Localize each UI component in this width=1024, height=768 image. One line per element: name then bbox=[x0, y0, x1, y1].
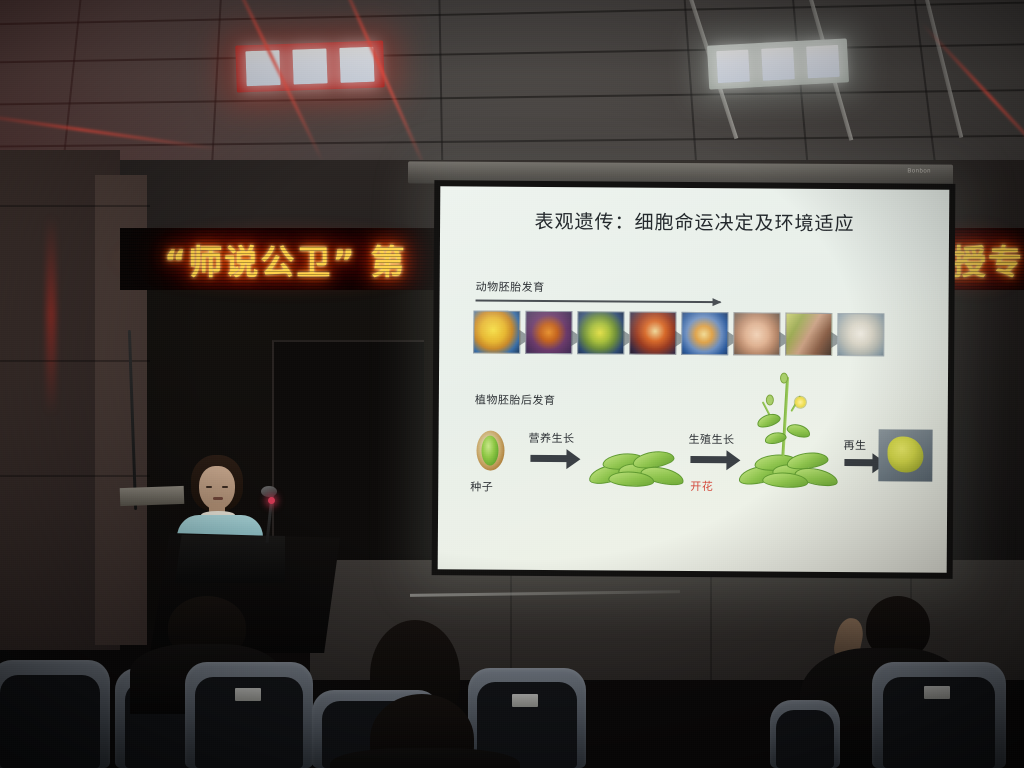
audience-seat bbox=[185, 662, 313, 768]
light-tube bbox=[716, 49, 750, 83]
stage-connector-icon bbox=[571, 330, 583, 346]
animal-section-label: 动物胚胎发育 bbox=[476, 278, 545, 294]
light-tube bbox=[806, 45, 840, 79]
wall-seam bbox=[0, 205, 150, 207]
wall-seam bbox=[0, 475, 150, 477]
seed-illustration bbox=[476, 430, 504, 470]
stage-connector-icon bbox=[623, 331, 635, 347]
stage-connector-icon bbox=[831, 332, 843, 348]
embryo-stage-thumbnail bbox=[837, 313, 884, 356]
embryo-stage-thumbnail bbox=[473, 310, 520, 353]
ceiling-rail bbox=[887, 0, 963, 138]
pillar-red-glow bbox=[46, 215, 56, 415]
audience-seat bbox=[0, 660, 110, 768]
arrow-right-icon bbox=[690, 456, 728, 463]
embryo-stage-thumbnail bbox=[629, 312, 676, 355]
flower-icon bbox=[795, 397, 806, 408]
speaker-mouth bbox=[213, 497, 223, 500]
speaker-eye bbox=[222, 486, 228, 488]
vegetative-growth-label: 营养生长 bbox=[529, 430, 575, 446]
screen-surface: 表观遗传：细胞命运决定及环境适应 动物胚胎发育 bbox=[438, 186, 950, 573]
lecture-hall-photo: “师说公卫” 第 教授专 Bonbon 表观遗传：细胞命运决定及环境适应 动物胚… bbox=[0, 0, 1024, 768]
reproductive-growth-label: 生殖生长 bbox=[689, 431, 735, 447]
stem-leaf bbox=[785, 422, 811, 440]
embryo-stage-thumbnail bbox=[577, 311, 624, 354]
led-banner-left: “师说公卫” 第 bbox=[120, 228, 450, 290]
stem-leaf bbox=[755, 411, 782, 430]
embryo-stage-thumbnail bbox=[733, 312, 780, 355]
plant-section-label: 植物胚胎后发育 bbox=[475, 391, 556, 408]
light-tube bbox=[292, 48, 327, 84]
embryo-stage-thumbnail bbox=[785, 313, 832, 356]
flowering-rosette-illustration bbox=[738, 450, 848, 487]
presentation-slide: 表观遗传：细胞命运决定及环境适应 动物胚胎发育 bbox=[438, 186, 950, 573]
ceiling-light-right bbox=[707, 38, 849, 89]
light-tube bbox=[761, 47, 795, 81]
led-banner-left-text: “师说公卫” 第 bbox=[120, 235, 407, 284]
seat-number-tag bbox=[235, 688, 261, 701]
indicator-light bbox=[268, 497, 275, 504]
audience-shoulders bbox=[330, 748, 520, 768]
callus-photo bbox=[878, 429, 932, 481]
wall-seam bbox=[510, 560, 512, 680]
ceiling-light-left bbox=[235, 40, 385, 92]
stage-connector-icon bbox=[519, 330, 531, 346]
flowering-label: 开花 bbox=[690, 478, 713, 494]
audience-seat bbox=[770, 700, 840, 768]
projector-screen: 表观遗传：细胞命运决定及环境适应 动物胚胎发育 bbox=[432, 180, 956, 579]
housing-brand-label: Bonbon bbox=[907, 168, 931, 174]
microphone-icon bbox=[261, 486, 277, 497]
stage-connector-icon bbox=[727, 331, 739, 347]
embryo-stage-thumbnail bbox=[681, 312, 728, 355]
animal-timeline-arrow-icon bbox=[476, 299, 721, 302]
regeneration-label: 再生 bbox=[843, 437, 866, 453]
embryo-stage-thumbnail bbox=[525, 311, 572, 354]
arrow-right-icon bbox=[530, 455, 568, 462]
seed-caption: 种子 bbox=[470, 478, 493, 494]
rosette-plant-illustration bbox=[588, 449, 688, 486]
arrow-right-icon bbox=[844, 459, 874, 466]
flower-bud-icon bbox=[780, 373, 788, 384]
speaker-eye bbox=[206, 486, 212, 488]
audience-seat bbox=[872, 662, 1006, 768]
stage-connector-icon bbox=[675, 331, 687, 347]
slide-title: 表观遗传：细胞命运决定及环境适应 bbox=[440, 206, 949, 237]
light-tube bbox=[340, 47, 375, 83]
flower-stem bbox=[781, 377, 789, 457]
wall-seam bbox=[0, 360, 150, 362]
seat-number-tag bbox=[512, 694, 538, 707]
seat-number-tag bbox=[924, 686, 950, 699]
flower-bud-icon bbox=[766, 395, 774, 406]
ceiling bbox=[0, 0, 1024, 168]
stage-connector-icon bbox=[779, 332, 791, 348]
wall-seam bbox=[710, 560, 712, 680]
